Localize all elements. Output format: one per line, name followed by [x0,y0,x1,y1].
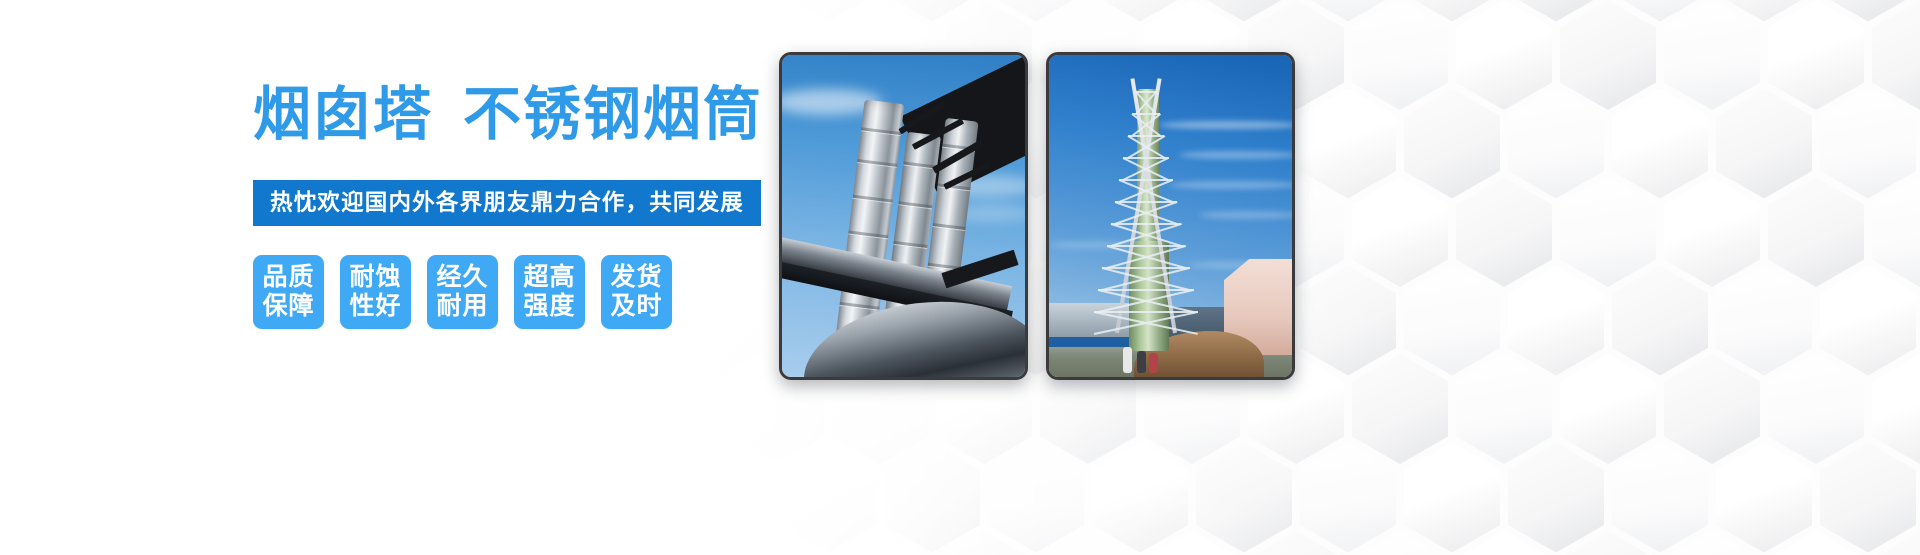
feature-badge-corrosion[interactable]: 耐蚀 性好 [340,255,411,329]
badge-line-2: 耐用 [436,292,488,322]
tower-brace [1111,223,1181,225]
hexagon-tile [1820,0,1916,22]
hexagon-tile [1040,531,1136,555]
tower-brace [1136,91,1156,93]
hexagon-tile [1248,531,1344,555]
hexagon-tile [1664,0,1760,110]
photo-inner [1049,55,1292,377]
hexagon-tile [780,0,876,22]
tower-brace [1128,135,1165,137]
hexagon-tile [728,531,824,555]
hexagon-tile [884,443,980,553]
product-photo-lattice-tower [1046,52,1295,380]
hexagon-tile [988,0,1084,22]
person [1123,347,1132,373]
hexagon-tile [1404,266,1500,376]
photo-inner [782,55,1025,377]
hexagon-tile [1768,0,1864,110]
feature-badge-strength[interactable]: 超高 强度 [514,255,585,329]
hexagon-tile [1820,89,1916,199]
hexagon-tile [1612,443,1708,553]
hexagon-tile [1456,354,1552,464]
tower-brace [1115,201,1177,203]
hexagon-tile [1508,0,1604,22]
hexagon-tile [1352,531,1448,555]
badge-line-1: 耐蚀 [349,263,401,293]
hexagon-tile [1196,443,1292,553]
cloud [1169,181,1292,189]
product-photo-stainless-chimney [779,52,1028,380]
badge-line-1: 经久 [436,263,488,293]
hexagon-tile [1092,443,1188,553]
hexagon-tile [1560,0,1656,110]
hexagon-tile [1300,89,1396,199]
hexagon-tile [1300,266,1396,376]
feature-badge-delivery[interactable]: 发货 及时 [601,255,672,329]
hexagon-tile [1768,531,1864,555]
badge-line-1: 超高 [523,263,575,293]
hexagon-tile [1144,531,1240,555]
tower-brace [1119,179,1173,181]
headline-part-1: 烟囱塔 [253,82,433,147]
hexagon-tile [884,0,980,22]
hexagon-tile [1300,443,1396,553]
hexagon-tile [624,354,720,464]
badge-line-2: 强度 [523,292,575,322]
tower-brace [1107,245,1186,247]
cloud [1179,151,1292,159]
person [1149,353,1158,373]
feature-badge-durable[interactable]: 经久 耐用 [427,255,498,329]
hexagon-tile [1404,0,1500,22]
badge-line-2: 及时 [610,292,662,322]
hexagon-tile [1768,354,1864,464]
hexagon-tile [624,531,720,555]
tower-brace [1123,157,1168,159]
hexagon-tile [1508,443,1604,553]
hexagon-tile [1820,443,1916,553]
hexagon-tile [1664,354,1760,464]
person [1137,351,1146,373]
hexagon-tile [1612,89,1708,199]
hexagon-tile [1560,177,1656,287]
badge-line-1: 品质 [262,263,314,293]
hexagon-tile [1872,354,1920,464]
hexagon-tile [1664,531,1760,555]
hexagon-tile [1196,0,1292,22]
hexagon-tile [1716,89,1812,199]
hexagon-tile [1092,0,1188,22]
hexagon-tile [1716,266,1812,376]
cloud [1199,211,1292,219]
badge-line-2: 保障 [262,292,314,322]
hexagon-tile [1872,177,1920,287]
hexagon-tile [1508,266,1604,376]
hexagon-tile [1716,0,1812,22]
hexagon-tile [1560,531,1656,555]
hexagon-tile [1560,354,1656,464]
feature-badge-quality[interactable]: 品质 保障 [253,255,324,329]
badge-line-1: 发货 [610,263,662,293]
hexagon-tile [1872,531,1920,555]
hexagon-tile [1872,0,1920,110]
tower-brace [1098,289,1194,291]
tower-brace [1094,311,1198,313]
cloud [1159,121,1292,129]
hexagon-tile [1456,0,1552,110]
hexagon-tile [1664,177,1760,287]
hexagon-tile [1768,177,1864,287]
hexagon-tile [1352,177,1448,287]
hexagon-tile [780,443,876,553]
hexagon-tile [1352,0,1448,110]
subtitle-bar-wrapper: 热忱欢迎国内外各界朋友鼎力合作，共同发展 [253,180,761,226]
subtitle-bar: 热忱欢迎国内外各界朋友鼎力合作，共同发展 [253,180,761,226]
headline-part-2: 不锈钢烟筒 [463,82,763,147]
hexagon-tile [936,531,1032,555]
hexagon-tile [1300,0,1396,22]
hexagon-tile [1612,266,1708,376]
hexagon-tile [1456,531,1552,555]
badge-line-2: 性好 [349,292,401,322]
hexagon-tile [988,443,1084,553]
hexagon-tile [1716,443,1812,553]
hexagon-tile [676,0,772,22]
hexagon-tile [832,531,928,555]
hexagon-tile [1404,443,1500,553]
hexagon-tile [1404,89,1500,199]
tower-brace [1102,267,1189,269]
promo-banner: 烟囱塔不锈钢烟筒 热忱欢迎国内外各界朋友鼎力合作，共同发展 品质 保障 耐蚀 性… [0,0,1920,555]
hexagon-tile [676,443,772,553]
hexagon-tile [1352,354,1448,464]
hexagon-tile [1820,266,1916,376]
tower-brace [1132,113,1160,115]
hexagon-tile [1612,0,1708,22]
hexagon-tile [1508,89,1604,199]
hexagon-tile [1456,177,1552,287]
